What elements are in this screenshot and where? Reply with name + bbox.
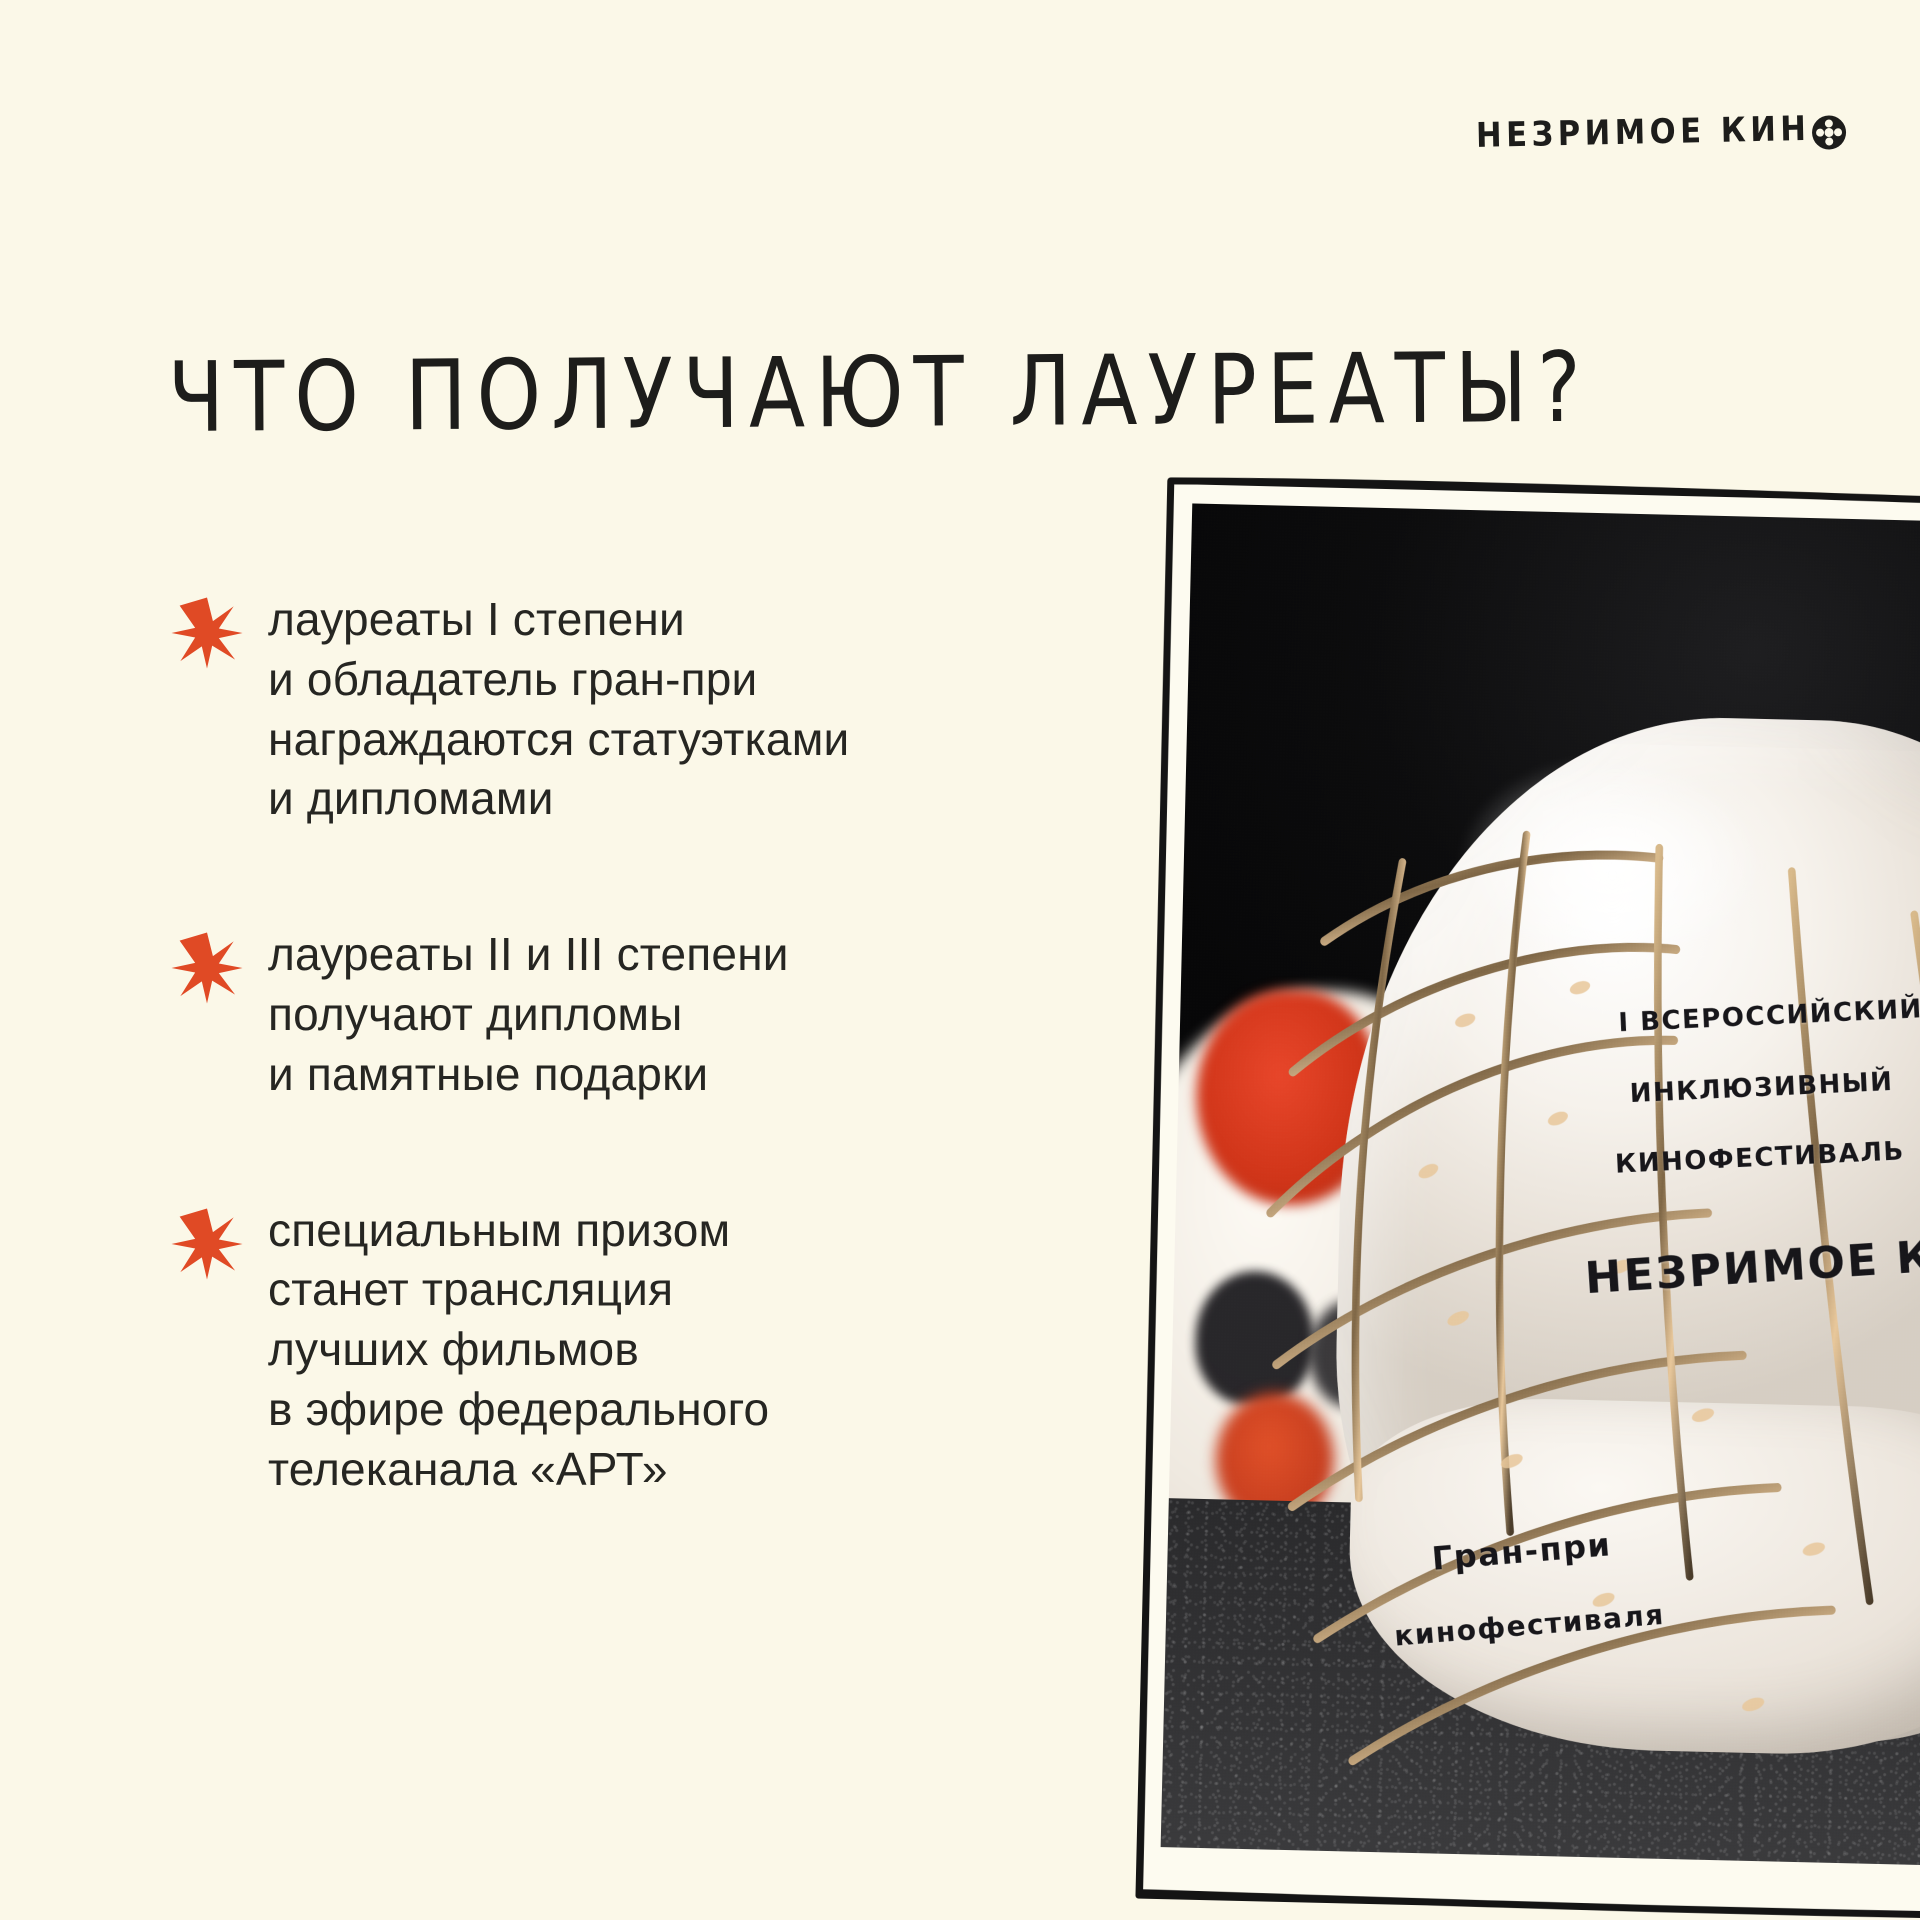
page-title: ЧТО ПОЛУЧАЮТ ЛАУРЕАТЫ?: [168, 332, 1669, 455]
brand-logo: НЕЗРИМОЕ КИН: [1475, 108, 1846, 156]
eight-point-star-icon: [170, 931, 244, 1005]
list-item: лауреаты II и III степени получают дипло…: [170, 925, 1090, 1104]
eight-point-star-icon: [170, 596, 244, 670]
list-item-text: лауреаты II и III степени получают дипло…: [268, 925, 789, 1104]
benefits-list: лауреаты I степени и обладатель гран-при…: [170, 590, 1090, 1500]
poster-canvas: НЕЗРИМОЕ КИН ЧТО ПОЛУЧАЮТ ЛАУРЕАТЫ? лаур…: [0, 0, 1920, 1920]
list-item-text: специальным призом станет трансляция луч…: [268, 1201, 769, 1500]
brand-name: НЕЗРИМОЕ КИН: [1475, 109, 1810, 156]
photo-image: I ВСЕРОССИЙСКИЙ ИНКЛЮЗИВНЫЙ КИНОФЕСТИВАЛ…: [1161, 503, 1920, 1868]
film-reel-icon: [1812, 115, 1847, 150]
eight-point-star-icon: [170, 1207, 244, 1281]
list-item: специальным призом станет трансляция луч…: [170, 1201, 1090, 1500]
statuette-photo-card: I ВСЕРОССИЙСКИЙ ИНКЛЮЗИВНЫЙ КИНОФЕСТИВАЛ…: [1135, 479, 1920, 1920]
list-item-text: лауреаты I степени и обладатель гран-при…: [268, 590, 849, 829]
list-item: лауреаты I степени и обладатель гран-при…: [170, 590, 1090, 829]
